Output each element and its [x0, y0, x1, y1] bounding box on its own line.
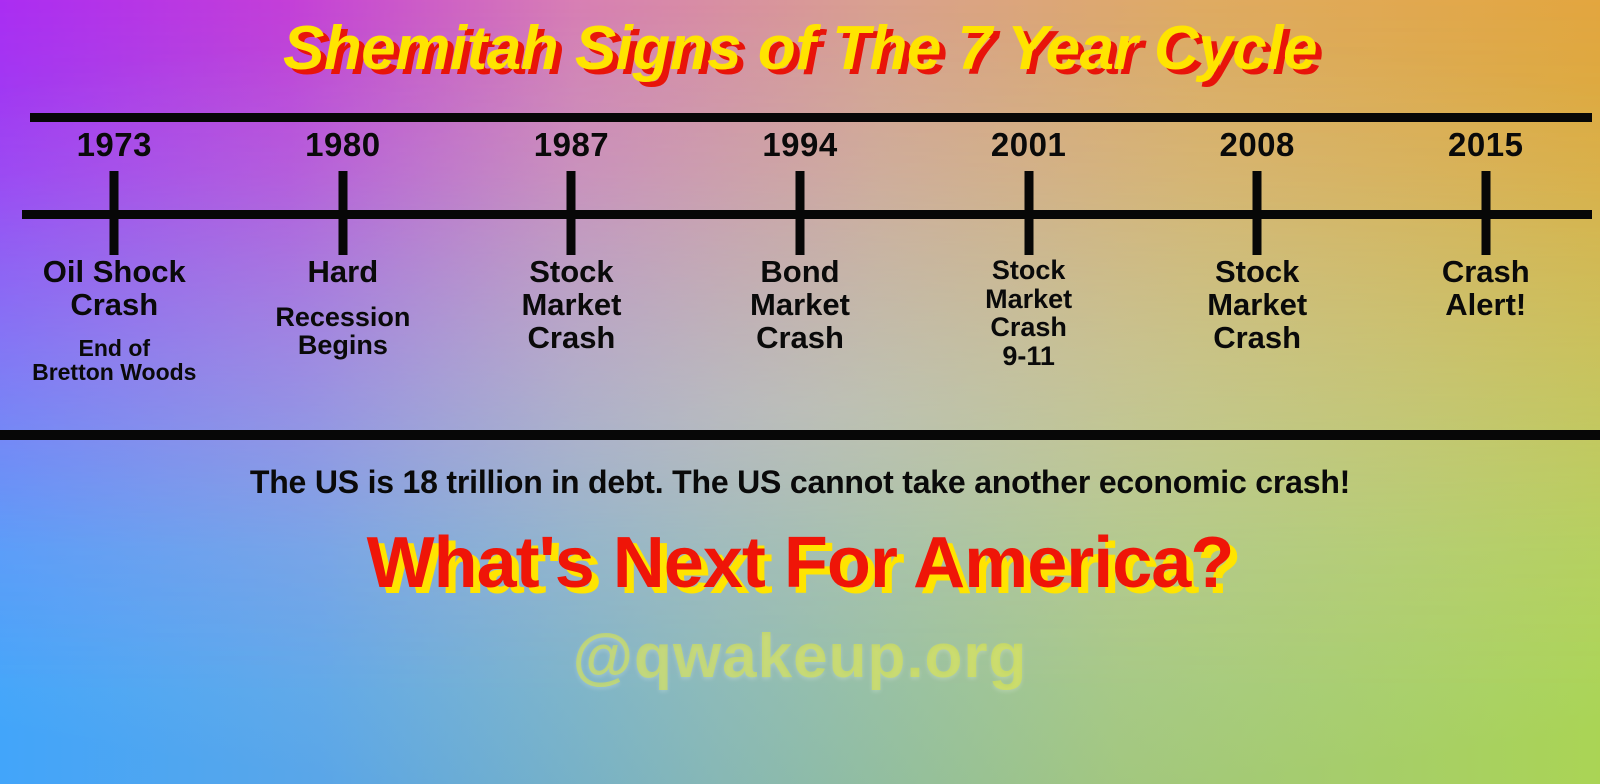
timeline-tick-mark	[110, 171, 119, 255]
event-line: Stock	[1143, 256, 1372, 289]
timeline-tick-mark	[338, 171, 347, 255]
timeline-columns: 1973Oil ShockCrashEnd ofBretton Woods198…	[0, 126, 1600, 426]
timeline-event-2008[interactable]: 2008StockMarketCrash	[1143, 126, 1372, 426]
event-line: 9-11	[914, 342, 1143, 371]
debt-statement: The US is 18 trillion in debt. The US ca…	[0, 464, 1600, 501]
event-year-label: 2001	[914, 128, 1143, 161]
timeline-event-1973[interactable]: 1973Oil ShockCrashEnd ofBretton Woods	[0, 126, 229, 426]
event-line: End of	[0, 336, 229, 360]
site-watermark: @qwakeup.org	[0, 626, 1600, 688]
event-line: Crash	[457, 322, 686, 355]
event-line: Crash	[0, 289, 229, 322]
event-line: Crash	[1143, 322, 1372, 355]
timeline-tick-mark	[1024, 171, 1033, 255]
event-line: Market	[914, 285, 1143, 314]
timeline-tick-mark	[796, 171, 805, 255]
event-line: Hard	[229, 256, 458, 289]
timeline-tick-mark	[1481, 171, 1490, 255]
event-line: Crash	[914, 313, 1143, 342]
event-line: Market	[686, 289, 915, 322]
event-line: Crash	[1371, 256, 1600, 289]
event-year-label: 1973	[0, 128, 229, 161]
event-line: Bretton Woods	[0, 360, 229, 384]
event-description: CrashAlert!	[1371, 256, 1600, 322]
event-line: Stock	[457, 256, 686, 289]
event-year-label: 1980	[229, 128, 458, 161]
event-line: Bond	[686, 256, 915, 289]
timeline-event-1987[interactable]: 1987StockMarketCrash	[457, 126, 686, 426]
timeline-event-2015[interactable]: 2015CrashAlert!	[1371, 126, 1600, 426]
poster-canvas: Shemitah Signs of The 7 Year Cycle 1973O…	[0, 0, 1600, 784]
timeline-bottom-rule	[0, 430, 1600, 440]
timeline-event-1994[interactable]: 1994BondMarketCrash	[686, 126, 915, 426]
poster-title: Shemitah Signs of The 7 Year Cycle	[0, 18, 1600, 80]
event-line: Begins	[229, 331, 458, 360]
event-year-label: 1987	[457, 128, 686, 161]
timeline-top-rule	[30, 113, 1592, 122]
event-description: BondMarketCrash	[686, 256, 915, 355]
event-line: Recession	[229, 303, 458, 332]
event-description: HardRecessionBegins	[229, 256, 458, 360]
event-year-label: 2015	[1371, 128, 1600, 161]
event-line: Market	[457, 289, 686, 322]
event-line: Market	[1143, 289, 1372, 322]
event-line: Stock	[914, 256, 1143, 285]
closing-headline: What's Next For America?	[0, 527, 1600, 599]
event-description: StockMarketCrash	[1143, 256, 1372, 355]
event-year-label: 1994	[686, 128, 915, 161]
event-description: Oil ShockCrashEnd ofBretton Woods	[0, 256, 229, 384]
timeline-tick-mark	[567, 171, 576, 255]
event-description: StockMarketCrash	[457, 256, 686, 355]
event-line-spacer	[0, 322, 229, 336]
event-line: Crash	[686, 322, 915, 355]
event-line: Oil Shock	[0, 256, 229, 289]
event-year-label: 2008	[1143, 128, 1372, 161]
event-line: Alert!	[1371, 289, 1600, 322]
timeline-event-1980[interactable]: 1980HardRecessionBegins	[229, 126, 458, 426]
timeline-event-2001[interactable]: 2001StockMarketCrash9-11	[914, 126, 1143, 426]
event-line-spacer	[229, 289, 458, 303]
event-description: StockMarketCrash9-11	[914, 256, 1143, 370]
timeline-tick-mark	[1253, 171, 1262, 255]
